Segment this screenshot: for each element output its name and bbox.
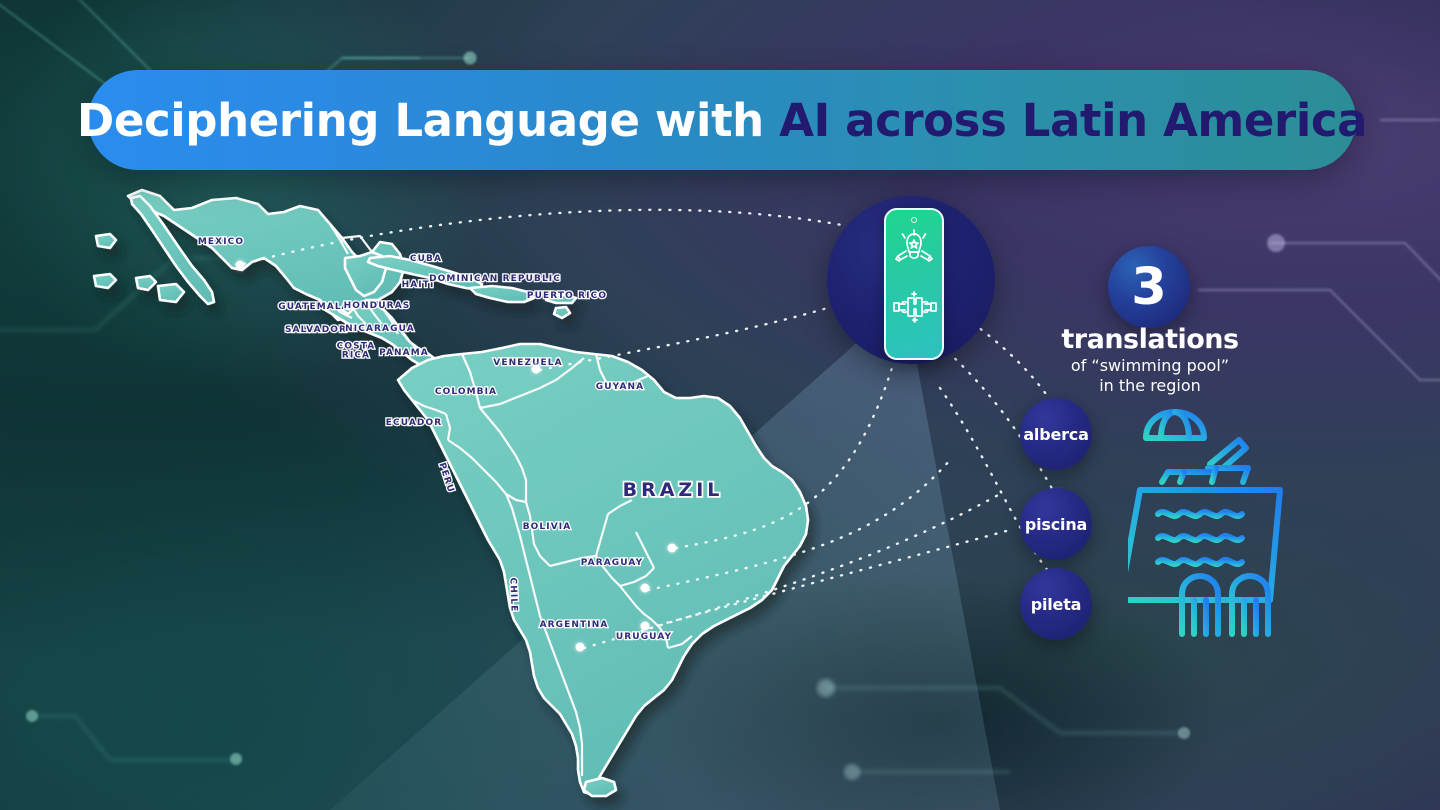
infographic-canvas: MEXICO CUBA HAITI DOMINICAN REPUBLIC PUE… (0, 0, 1440, 810)
vignette-overlay (0, 0, 1440, 810)
